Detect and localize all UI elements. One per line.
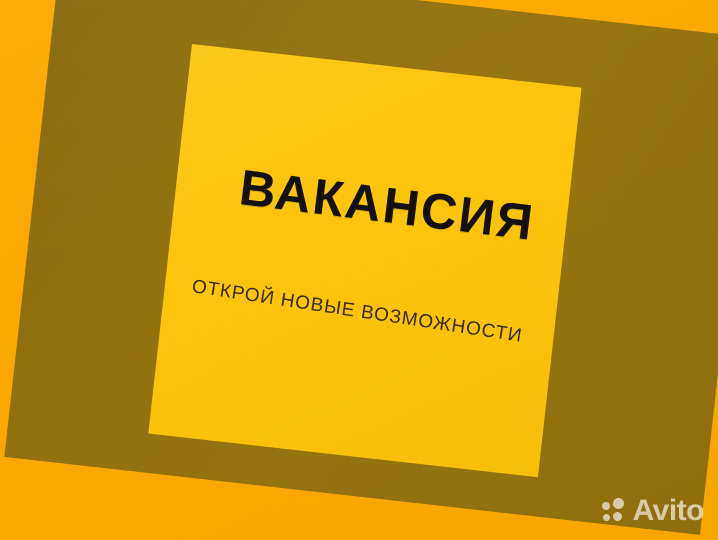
banner-canvas: ВАКАНСИЯ ОТКРОЙ НОВЫЕ ВОЗМОЖНОСТИ Avito xyxy=(0,0,718,540)
avito-dots-icon xyxy=(600,498,626,524)
avito-watermark: Avito xyxy=(600,496,704,526)
avito-brand-label: Avito xyxy=(633,496,704,526)
yellow-card-gradient xyxy=(148,44,581,477)
yellow-card xyxy=(148,44,581,477)
